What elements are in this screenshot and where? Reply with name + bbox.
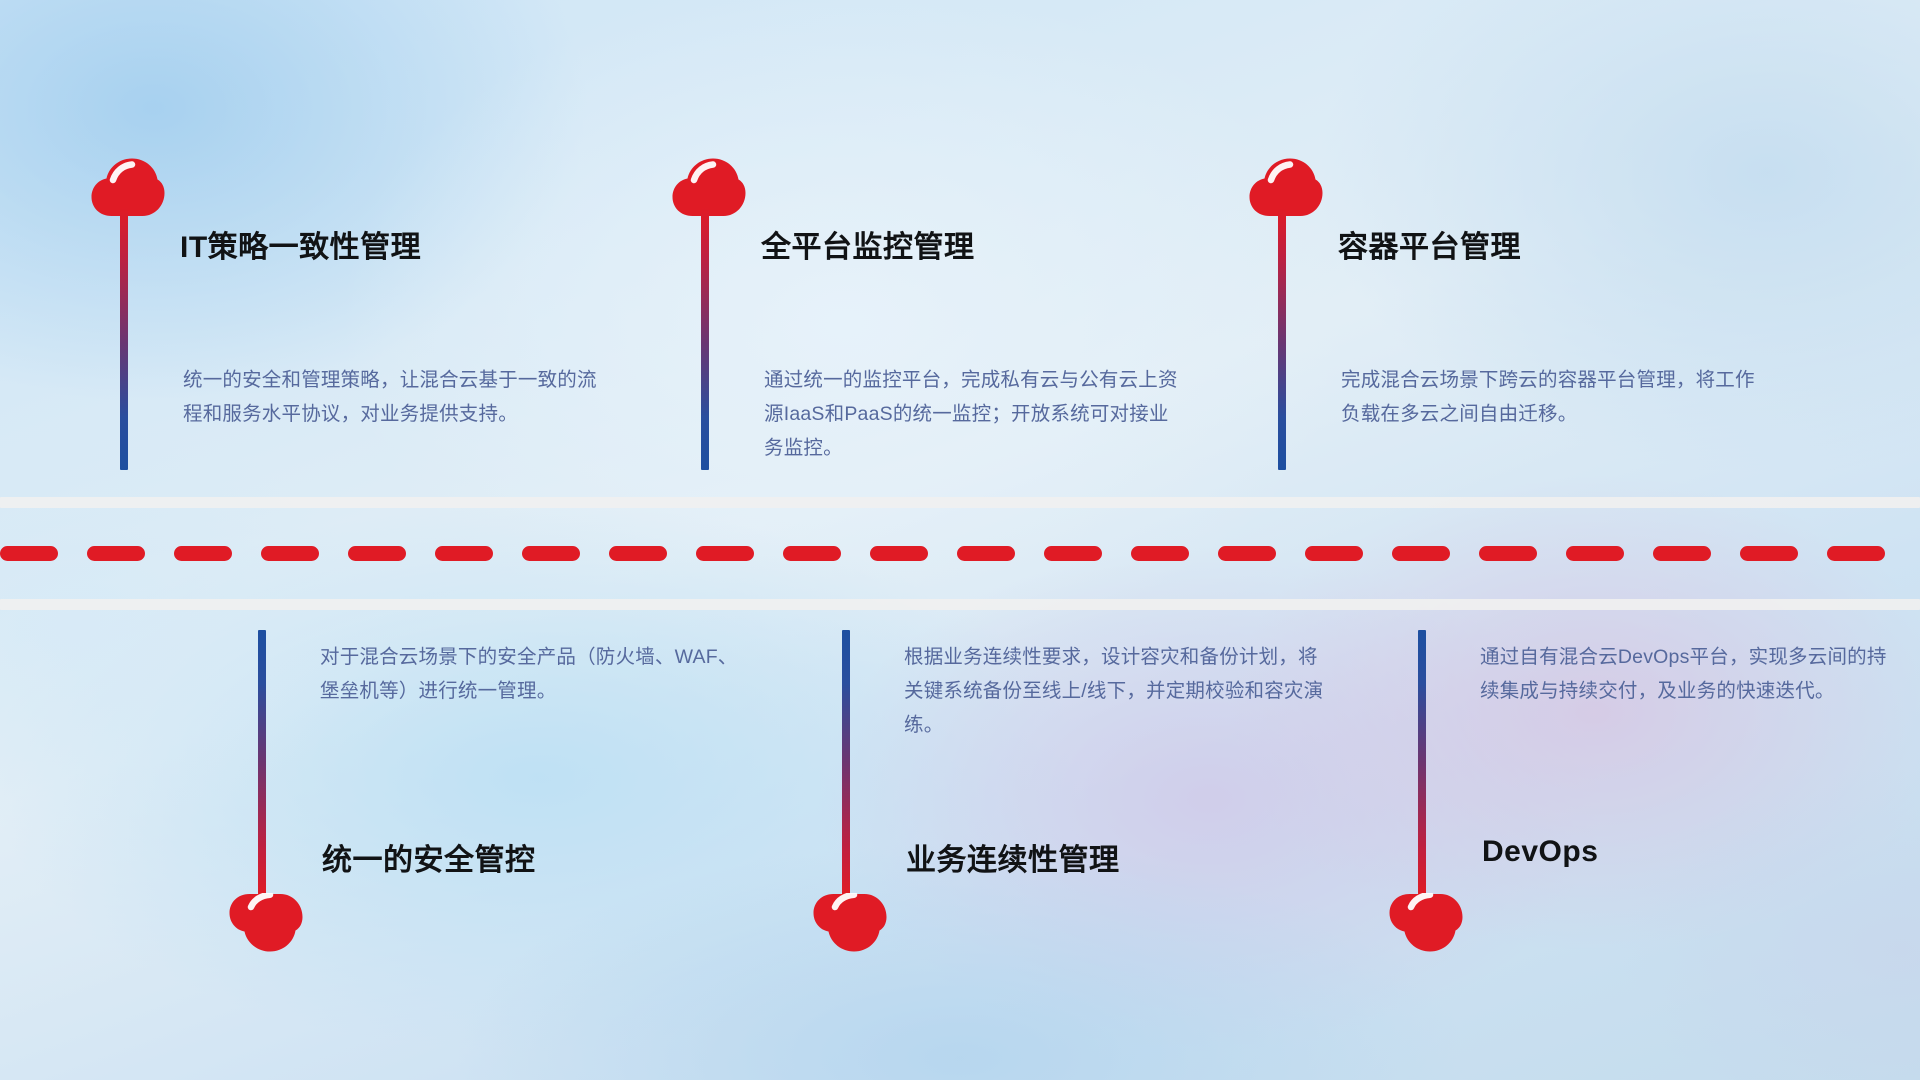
marker-title: 业务连续性管理 bbox=[906, 835, 1120, 879]
road-dash bbox=[1566, 546, 1624, 561]
marker-title: DevOps bbox=[1482, 835, 1598, 869]
marker-body: 对于混合云场景下的安全产品（防火墙、WAF、堡垒机等）进行统一管理。 bbox=[320, 640, 740, 708]
road-dash bbox=[870, 546, 928, 561]
marker-title: 容器平台管理 bbox=[1338, 222, 1521, 266]
road-dash bbox=[1653, 546, 1711, 561]
cloud-pin-icon bbox=[813, 893, 887, 953]
marker-body: 通过统一的监控平台，完成私有云与公有云上资源IaaS和PaaS的统一监控；开放系… bbox=[764, 363, 1182, 465]
marker-stem bbox=[120, 208, 128, 470]
marker-stem bbox=[1278, 208, 1286, 470]
road-dash bbox=[1131, 546, 1189, 561]
road-dash bbox=[1740, 546, 1798, 561]
road-center-dashes bbox=[0, 545, 1920, 561]
road-edge-top bbox=[0, 497, 1920, 508]
cloud-pin-icon bbox=[1389, 893, 1463, 953]
road-dash bbox=[1305, 546, 1363, 561]
cloud-pin-icon bbox=[672, 157, 746, 217]
marker-body: 根据业务连续性要求，设计容灾和备份计划，将关键系统备份至线上/线下，并定期校验和… bbox=[904, 640, 1324, 742]
road-dash bbox=[1827, 546, 1885, 561]
road-dash bbox=[261, 546, 319, 561]
marker-stem bbox=[842, 630, 850, 895]
road-dash bbox=[174, 546, 232, 561]
marker-body: 通过自有混合云DevOps平台，实现多云间的持续集成与持续交付，及业务的快速迭代… bbox=[1480, 640, 1890, 708]
marker-body: 完成混合云场景下跨云的容器平台管理，将工作负载在多云之间自由迁移。 bbox=[1341, 363, 1763, 431]
road-dash bbox=[0, 546, 58, 561]
cloud-pin-icon bbox=[91, 157, 165, 217]
road-dash bbox=[1044, 546, 1102, 561]
marker-title: 统一的安全管控 bbox=[322, 835, 536, 879]
road-dash bbox=[348, 546, 406, 561]
road-dash bbox=[1392, 546, 1450, 561]
road-edge-bottom bbox=[0, 599, 1920, 610]
road-dash bbox=[957, 546, 1015, 561]
road-dash bbox=[87, 546, 145, 561]
road-dash bbox=[1479, 546, 1537, 561]
marker-body: 统一的安全和管理策略，让混合云基于一致的流程和服务水平协议，对业务提供支持。 bbox=[183, 363, 601, 431]
road-dash bbox=[609, 546, 667, 561]
cloud-pin-icon bbox=[229, 893, 303, 953]
marker-stem bbox=[701, 208, 709, 470]
road-dash bbox=[696, 546, 754, 561]
marker-title: IT策略一致性管理 bbox=[180, 222, 421, 266]
cloud-pin-icon bbox=[1249, 157, 1323, 217]
road-dash bbox=[522, 546, 580, 561]
marker-stem bbox=[258, 630, 266, 895]
road-dash bbox=[435, 546, 493, 561]
marker-title: 全平台监控管理 bbox=[761, 222, 975, 266]
road-dash bbox=[783, 546, 841, 561]
marker-stem bbox=[1418, 630, 1426, 895]
road-dash bbox=[1218, 546, 1276, 561]
